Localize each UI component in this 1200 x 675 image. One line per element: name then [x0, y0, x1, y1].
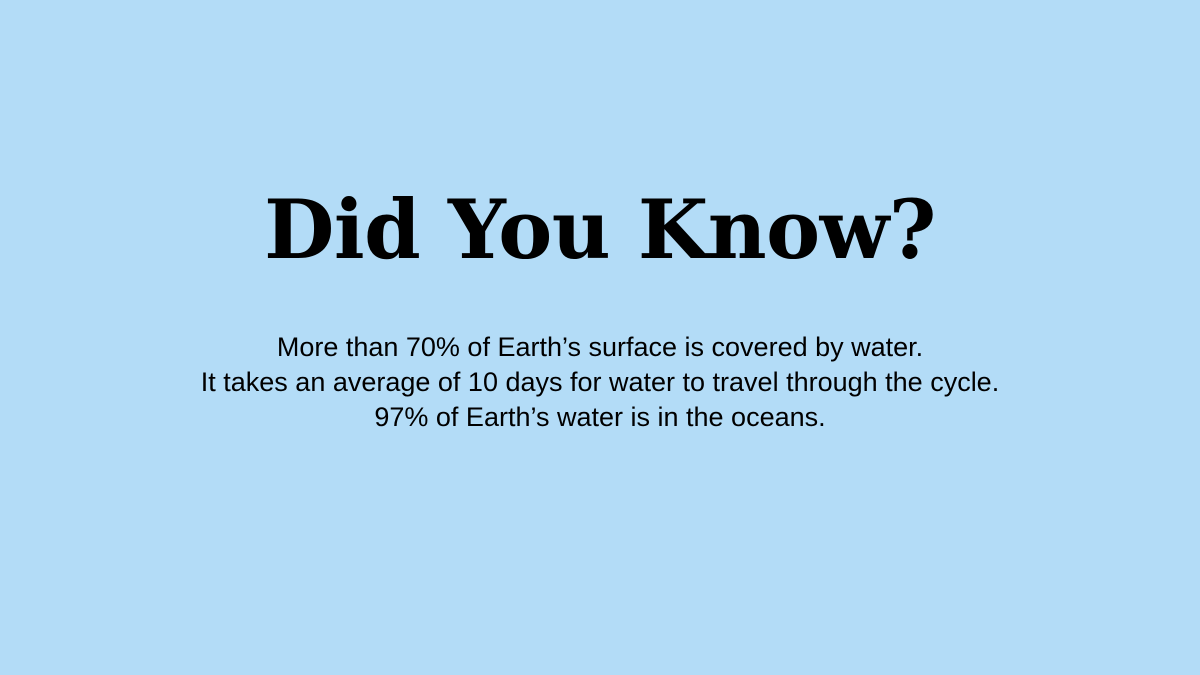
fact-line: It takes an average of 10 days for water…: [0, 365, 1200, 400]
fact-line: 97% of Earth’s water is in the oceans.: [0, 400, 1200, 435]
fact-line: More than 70% of Earth’s surface is cove…: [0, 330, 1200, 365]
did-you-know-slide: Did You Know? More than 70% of Earth’s s…: [0, 0, 1200, 675]
fact-list: More than 70% of Earth’s surface is cove…: [0, 330, 1200, 435]
page-title: Did You Know?: [0, 186, 1200, 276]
